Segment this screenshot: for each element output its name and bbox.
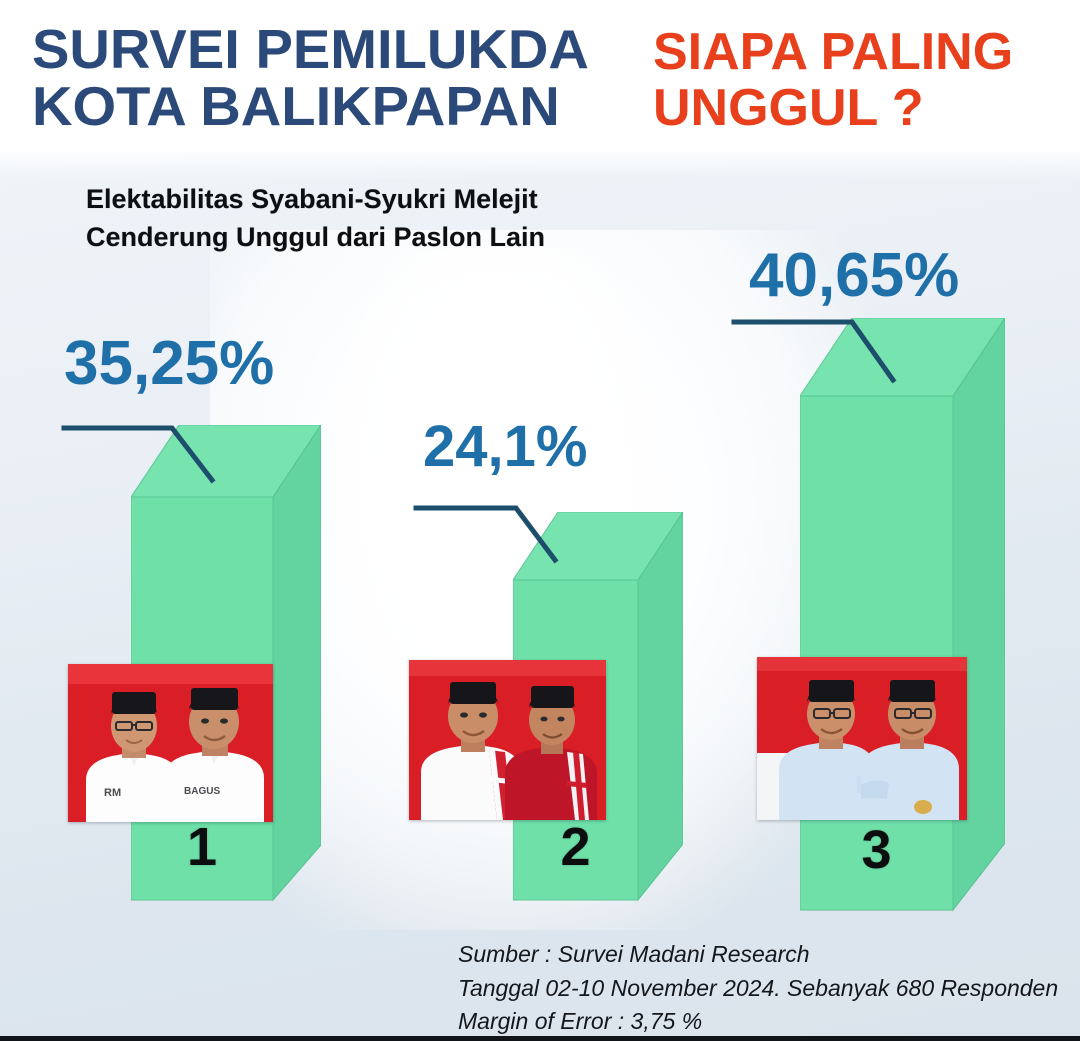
bar-2-number: 2	[513, 820, 638, 874]
date-respondents-line: Tanggal 02-10 November 2024. Sebanyak 68…	[458, 972, 1058, 1006]
source-footer: Sumber : Survei Madani Research Tanggal …	[458, 938, 1058, 1039]
percent-label-1: 35,25%	[64, 333, 274, 395]
candidate-photo-2	[409, 660, 606, 820]
candidate-photo-1-art: RM BAGUS	[68, 664, 273, 822]
bar-3-number: 3	[800, 823, 953, 877]
survey-question-line-1: SIAPA PALING	[653, 26, 1073, 78]
margin-of-error-line: Margin of Error : 3,75 %	[458, 1005, 1058, 1039]
subtitle: Elektabilitas Syabani-Syukri Melejit Cen…	[86, 180, 545, 257]
survey-question: SIAPA PALING UNGGUL ?	[653, 26, 1073, 138]
bar-1-number: 1	[131, 820, 273, 874]
infographic-root: SURVEI PEMILUKDA KOTA BALIKPAPAN SIAPA P…	[0, 0, 1080, 1041]
percent-label-3: 40,65%	[749, 245, 959, 307]
percent-label-2: 24,1%	[423, 418, 587, 476]
subtitle-line-2: Cenderung Unggul dari Paslon Lain	[86, 218, 545, 256]
svg-text:RM: RM	[104, 787, 121, 799]
svg-text:BAGUS: BAGUS	[184, 786, 220, 797]
leader-line-2	[412, 498, 587, 588]
candidate-photo-2-art	[409, 660, 606, 820]
leader-line-3	[730, 312, 930, 407]
survey-title-line-2: KOTA BALIKPAPAN	[32, 79, 664, 134]
survey-title: SURVEI PEMILUKDA KOTA BALIKPAPAN	[32, 22, 664, 136]
headline: SURVEI PEMILUKDA KOTA BALIKPAPAN SIAPA P…	[0, 0, 1080, 152]
source-line: Sumber : Survei Madani Research	[458, 938, 1058, 972]
candidate-photo-1: RM BAGUS	[68, 664, 273, 822]
subtitle-line-1: Elektabilitas Syabani-Syukri Melejit	[86, 180, 545, 218]
candidate-photo-3	[757, 657, 967, 820]
bottom-rule	[0, 1036, 1080, 1041]
survey-title-line-1: SURVEI PEMILUKDA	[32, 22, 664, 77]
bar-3: 3	[800, 318, 1005, 918]
candidate-photo-3-art	[757, 657, 967, 820]
survey-question-line-2: UNGGUL ?	[653, 82, 1073, 134]
leader-line-1	[60, 418, 250, 508]
